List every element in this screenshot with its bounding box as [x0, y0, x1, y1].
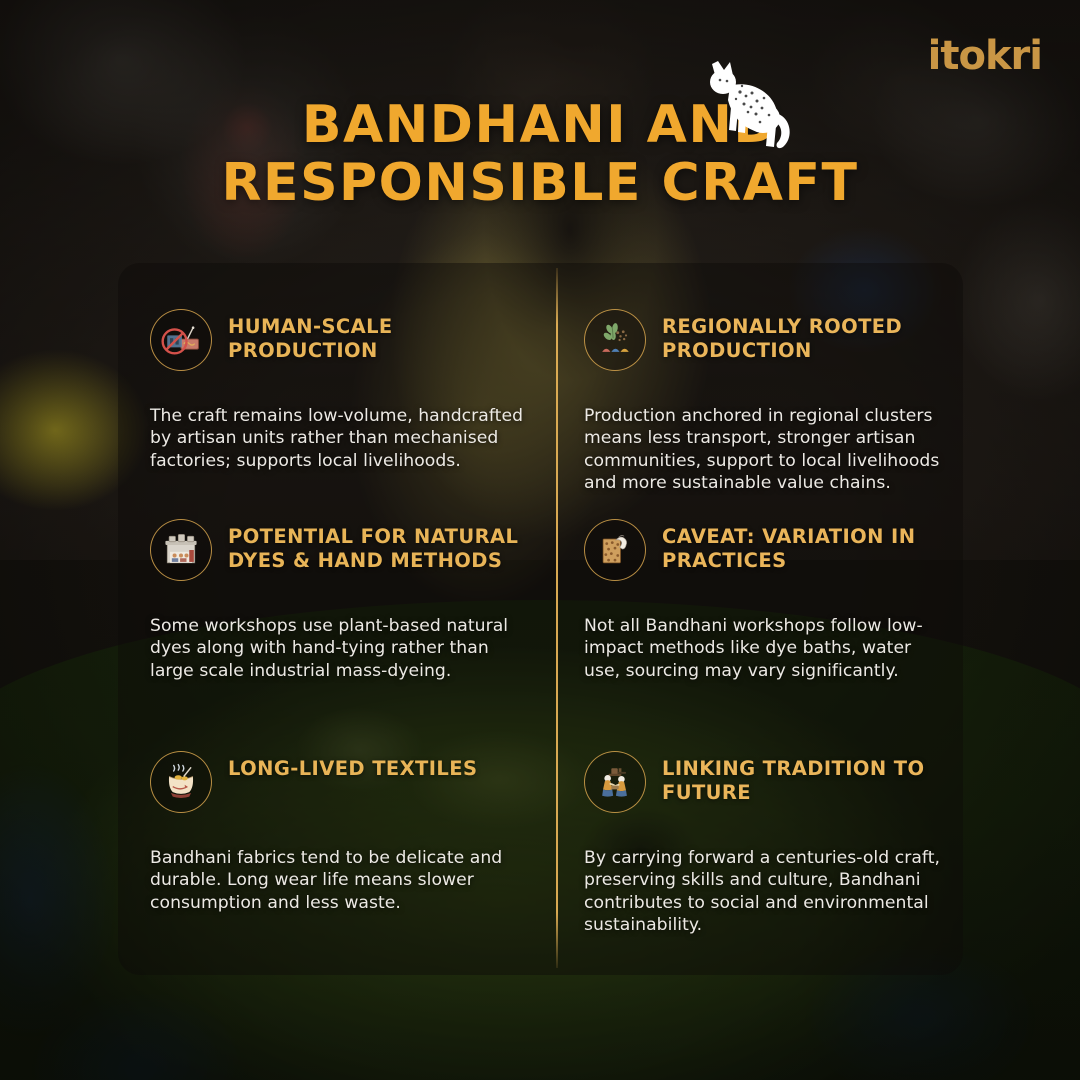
card-caveat-variation-practices: CAVEAT: VARIATION IN PRACTICES Not all B…: [556, 473, 963, 683]
card-header: LONG-LIVED TEXTILES: [150, 749, 530, 813]
card-title: LONG-LIVED TEXTILES: [228, 749, 477, 781]
card-regionally-rooted-production: REGIONALLY ROOTED PRODUCTION Production …: [556, 263, 963, 473]
cards-grid: HUMAN-SCALE PRODUCTION The craft remains…: [118, 263, 963, 975]
card-header: LINKING TRADITION TO FUTURE: [584, 749, 941, 813]
herbs-and-dye-powders-icon: [584, 309, 646, 371]
card-header: REGIONALLY ROOTED PRODUCTION: [584, 307, 941, 371]
card-long-lived-textiles: LONG-LIVED TEXTILES Bandhani fabrics ten…: [118, 683, 556, 975]
card-title: HUMAN-SCALE PRODUCTION: [228, 307, 530, 363]
steaming-dye-pot-icon: [150, 751, 212, 813]
card-title: CAVEAT: VARIATION IN PRACTICES: [662, 517, 941, 573]
hand-holding-printed-fabric-icon: [584, 519, 646, 581]
card-title: POTENTIAL FOR NATURAL DYES & HAND METHOD…: [228, 517, 530, 573]
card-body: Not all Bandhani workshops follow low-im…: [584, 615, 941, 682]
card-body: Bandhani fabrics tend to be delicate and…: [150, 847, 530, 914]
page-title-line-2: RESPONSIBLE CRAFT: [0, 154, 1080, 212]
card-header: CAVEAT: VARIATION IN PRACTICES: [584, 517, 941, 581]
card-title: LINKING TRADITION TO FUTURE: [662, 749, 941, 805]
card-body: By carrying forward a centuries-old craf…: [584, 847, 941, 936]
card-body: Some workshops use plant-based natural d…: [150, 615, 530, 682]
page-title-line-1: BANDHANI AND: [0, 96, 1080, 154]
no-factory-icon: [150, 309, 212, 371]
infographic-poster: itokri BANDHANI AND RESPONSIBLE CRAFT: [0, 0, 1080, 1080]
brand-logo-itokri[interactable]: itokri: [928, 36, 1042, 76]
card-linking-tradition-future: LINKING TRADITION TO FUTURE By carrying …: [556, 683, 963, 975]
card-potential-natural-dyes: POTENTIAL FOR NATURAL DYES & HAND METHOD…: [118, 473, 556, 683]
page-title: BANDHANI AND RESPONSIBLE CRAFT: [0, 96, 1080, 212]
card-header: HUMAN-SCALE PRODUCTION: [150, 307, 530, 371]
workshop-building-icon: [150, 519, 212, 581]
card-human-scale-production: HUMAN-SCALE PRODUCTION The craft remains…: [118, 263, 556, 473]
card-body: The craft remains low-volume, handcrafte…: [150, 405, 530, 472]
card-title: REGIONALLY ROOTED PRODUCTION: [662, 307, 941, 363]
card-header: POTENTIAL FOR NATURAL DYES & HAND METHOD…: [150, 517, 530, 581]
two-artisans-icon: [584, 751, 646, 813]
